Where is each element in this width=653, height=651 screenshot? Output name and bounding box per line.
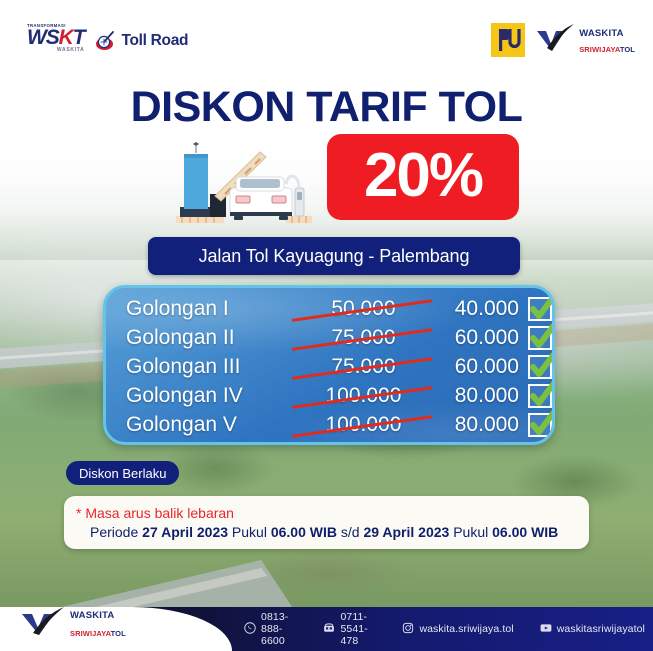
whatsapp-icon [244, 622, 256, 637]
footer-contacts: 0813-888-66000711-5541-478waskita.sriwij… [236, 607, 645, 651]
toll-gate-illustration [168, 132, 318, 228]
wskt-t: T [73, 26, 85, 49]
new-price: 80.000 [427, 385, 519, 406]
contact-value: waskitasriwijayatol [557, 623, 645, 635]
footer-logo-line1: WASKITA [70, 610, 115, 621]
promo-poster: TRANSFORMASI WSKT WASKITA Toll Road [0, 0, 653, 651]
header-bar: TRANSFORMASI WSKT WASKITA Toll Road [0, 0, 653, 72]
wskt-logo: TRANSFORMASI WSKT WASKITA [27, 24, 84, 53]
check-icon [528, 297, 552, 321]
footer-logo: WASKITA SRIWIJAYATOL [20, 605, 126, 641]
pavement-markers [176, 216, 312, 223]
car [230, 177, 292, 220]
status-badge-label: Diskon Berlaku [79, 466, 166, 481]
instagram-icon [402, 622, 414, 637]
new-price: 40.000 [427, 298, 519, 319]
contact-value: waskita.sriwijaya.tol [419, 623, 513, 635]
note-line-1: * Masa arus balik lebaran [76, 504, 589, 523]
footer-logo-line2: SRIWIJAYATOL [70, 629, 126, 638]
status-badge: Diskon Berlaku [66, 461, 179, 485]
table-row: Golongan IV100.00080.000 [106, 381, 552, 410]
note-time-end: 06.00 WIB [492, 524, 558, 540]
wskt-ws: WS [27, 26, 59, 49]
header-left-logos: TRANSFORMASI WSKT WASKITA Toll Road [27, 24, 188, 53]
road-name-label: Jalan Tol Kayuagung - Palembang [199, 246, 470, 267]
check-icon [528, 384, 552, 408]
pu-ministry-logo-icon [491, 23, 525, 57]
waskita-swoosh-icon [20, 606, 66, 641]
note-date-start: 27 April 2023 [142, 524, 228, 540]
contact-item[interactable]: waskitasriwijayatol [540, 622, 645, 637]
old-price: 100.000 [299, 385, 427, 406]
table-row: Golongan I50.00040.000 [106, 294, 552, 323]
table-row: Golongan III75.00060.000 [106, 352, 552, 381]
youtube-icon [540, 622, 552, 637]
header-right-logos: WASKITA SRIWIJAYATOL [491, 22, 635, 57]
check-icon [528, 413, 552, 437]
contact-item[interactable]: 0813-888-6600 [244, 611, 297, 647]
contact-item[interactable]: waskita.sriwijaya.tol [402, 622, 513, 637]
contact-value: 0813-888-6600 [261, 611, 297, 647]
table-row: Golongan V100.00080.000 [106, 410, 552, 439]
note-mid-1: Pukul [228, 524, 271, 540]
wskt-k: K [59, 26, 73, 49]
contact-value: 0711-5541-478 [340, 611, 376, 647]
new-price: 60.000 [427, 356, 519, 377]
price-table-rows: Golongan I50.00040.000Golongan II75.0006… [106, 288, 552, 439]
waskita-line2: SRIWIJAYATOL [579, 45, 635, 54]
new-price: 80.000 [427, 414, 519, 435]
note-line-2: Periode 27 April 2023 Pukul 06.00 WIB s/… [76, 523, 589, 542]
vehicle-class-label: Golongan III [126, 356, 299, 377]
old-price: 75.000 [299, 327, 427, 348]
check-icon [528, 326, 552, 350]
note-card: * Masa arus balik lebaran Periode 27 Apr… [64, 496, 589, 549]
toll-road-logo: Toll Road [95, 31, 188, 53]
telephone-icon [323, 622, 335, 637]
vehicle-class-label: Golongan I [126, 298, 299, 319]
vehicle-class-label: Golongan IV [126, 385, 299, 406]
waskita-swoosh-icon [535, 22, 575, 57]
toll-road-label: Toll Road [121, 32, 188, 50]
note-prefix: Periode [90, 524, 142, 540]
old-price: 50.000 [299, 298, 427, 319]
note-time-start: 06.00 WIB [271, 524, 337, 540]
road-name-banner: Jalan Tol Kayuagung - Palembang [148, 237, 520, 275]
contact-item[interactable]: 0711-5541-478 [323, 611, 376, 647]
check-icon [528, 355, 552, 379]
old-price: 75.000 [299, 356, 427, 377]
page-title: DISKON TARIF TOL [0, 86, 653, 129]
discount-badge: 20% [327, 134, 519, 220]
old-price: 100.000 [299, 414, 427, 435]
discount-value: 20% [364, 145, 482, 207]
waskita-line1: WASKITA [579, 28, 624, 39]
vehicle-class-label: Golongan II [126, 327, 299, 348]
table-row: Golongan II75.00060.000 [106, 323, 552, 352]
vehicle-class-label: Golongan V [126, 414, 299, 435]
note-mid-3: Pukul [449, 524, 492, 540]
note-mid-2: s/d [337, 524, 363, 540]
footer-logo-text: WASKITA SRIWIJAYATOL [70, 605, 126, 641]
waskita-sriwijaya-tol-logo: WASKITA SRIWIJAYATOL [535, 22, 635, 57]
price-table-panel: Golongan I50.00040.000Golongan II75.0006… [103, 285, 555, 445]
toll-road-badge-icon [95, 31, 117, 51]
new-price: 60.000 [427, 327, 519, 348]
waskita-sriwijaya-tol-text: WASKITA SRIWIJAYATOL [579, 24, 635, 56]
note-date-end: 29 April 2023 [363, 524, 449, 540]
wskt-wordmark: WSKT [27, 28, 84, 47]
